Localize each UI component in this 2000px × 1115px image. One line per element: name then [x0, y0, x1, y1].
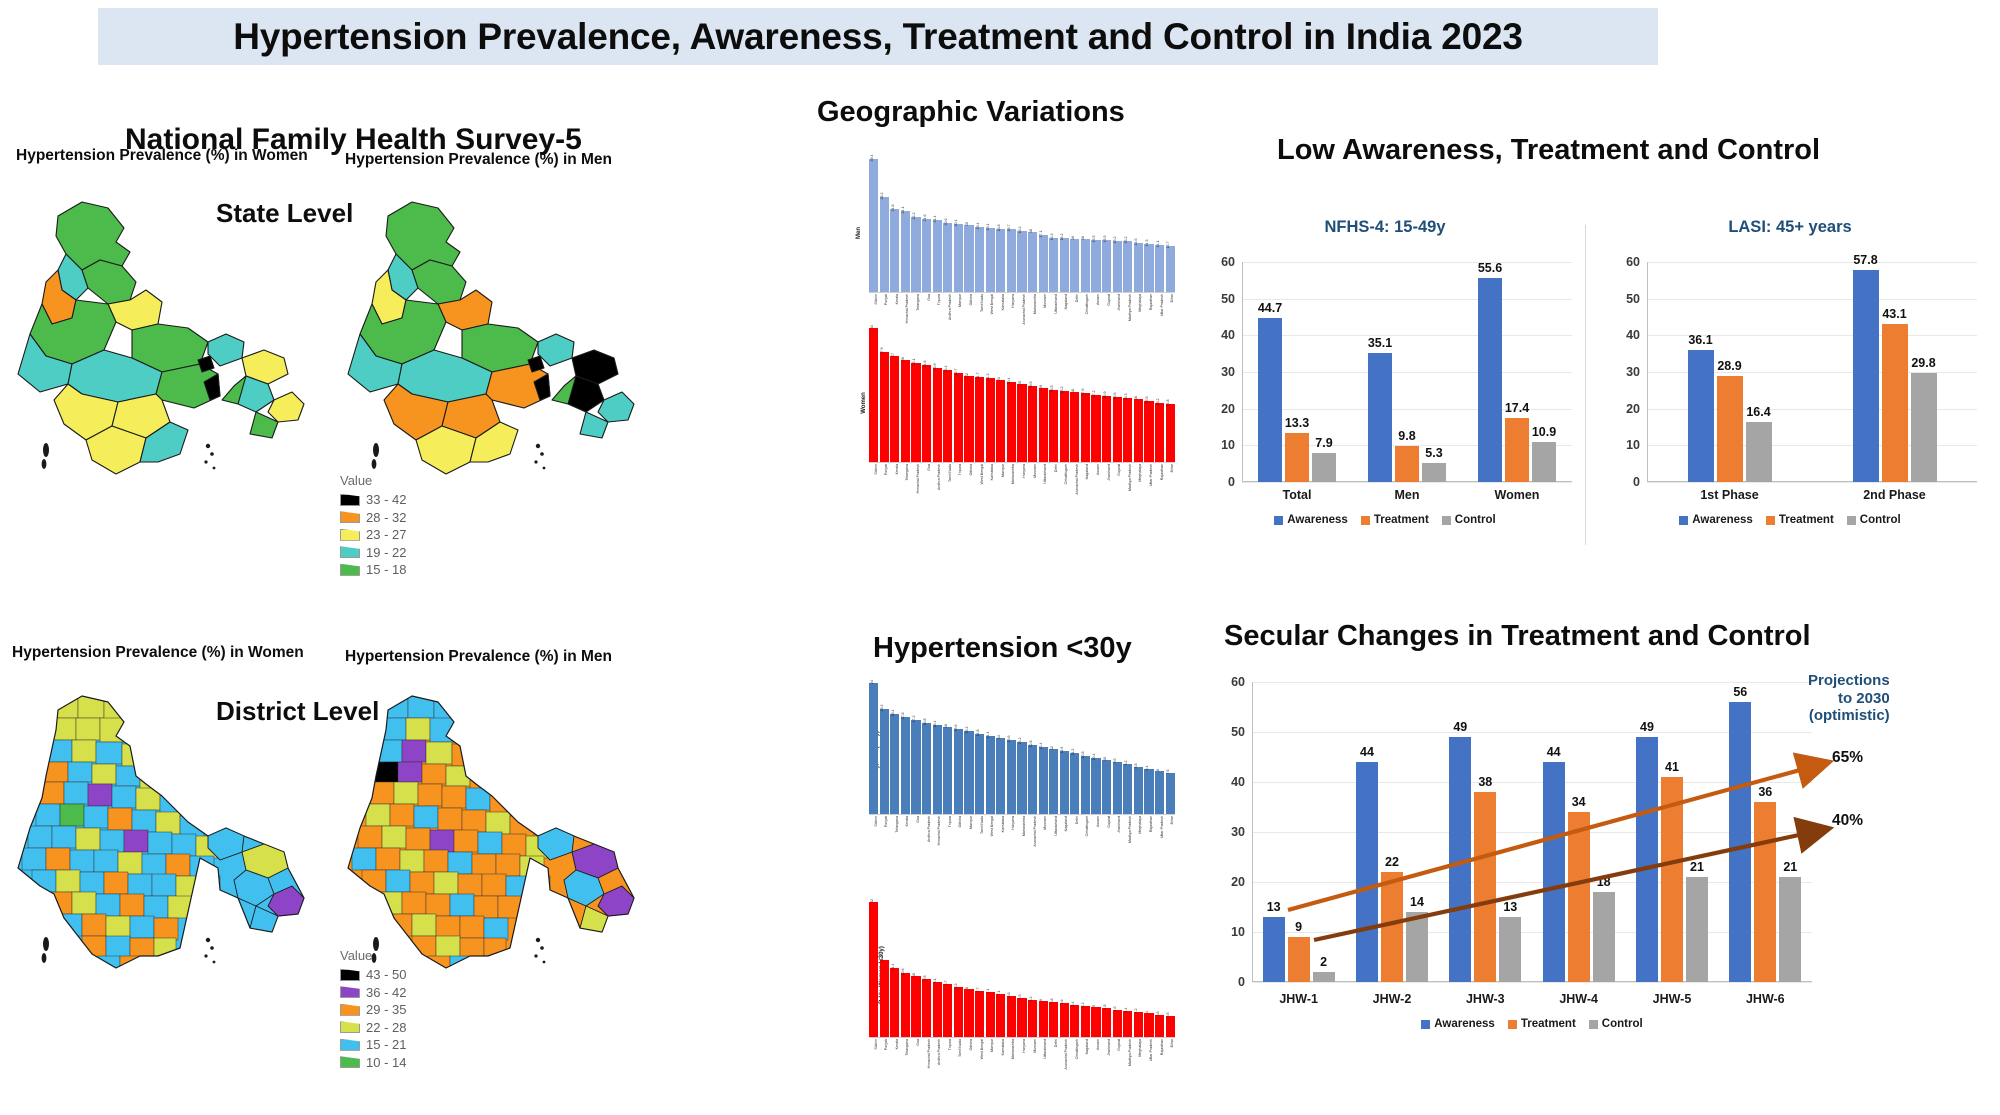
bar-value-label: 4.4 [1124, 1007, 1128, 1012]
bar-value-label: 18.2 [1018, 227, 1022, 234]
india-state-map-men-svg [342, 178, 642, 478]
bar-fill [996, 380, 1005, 463]
category-label: Rajasthan [1144, 815, 1153, 837]
bar: 3.8 [1155, 1015, 1164, 1038]
bar: 7.7 [975, 991, 984, 1038]
category-label: Kerala [901, 815, 910, 837]
bar: 8.3 [954, 987, 963, 1038]
bar: 14.6 [1134, 243, 1143, 293]
bar: 10.8 [1081, 756, 1090, 815]
category-label: Chhattisgarh [1060, 463, 1069, 485]
bar-value-label: 7.4 [986, 989, 990, 994]
bar-fill [1113, 397, 1122, 463]
y-axis-tick-label: 40 [1231, 775, 1245, 789]
category-label: Andhra Pradesh [933, 1038, 942, 1060]
bar: 10.4 [1091, 758, 1100, 815]
bar: 15.5 [1091, 240, 1100, 293]
bar: 28.2 [880, 197, 889, 293]
x-category-label: Men [1352, 488, 1462, 502]
category-label: Delhi [1049, 1038, 1058, 1060]
bar-fill [1091, 395, 1100, 463]
y-axis-tick-label: 30 [1221, 365, 1235, 379]
bar: 16.2 [1060, 238, 1069, 293]
category-label: Tripura [954, 463, 963, 485]
bar-fill [1102, 1008, 1111, 1038]
bar-fill [1060, 751, 1069, 815]
bar-fill [901, 360, 910, 463]
category-label: Rajasthan [1144, 293, 1153, 315]
category-label: Mizoram [1039, 293, 1048, 315]
bar-value-label: 6 [1039, 999, 1043, 1001]
bar-treatment: 36 [1754, 802, 1776, 982]
bar-groups: 44.713.37.935.19.85.355.617.410.9 [1242, 262, 1572, 482]
bar-group: 35.19.85.3 [1352, 262, 1462, 482]
category-label: West Bengal [986, 815, 995, 837]
bar-value-label: 16 [1071, 236, 1075, 240]
category-label: Haryana [1007, 293, 1016, 315]
legend-swatch [1508, 1020, 1517, 1029]
bar-value-label: 13.2 [1018, 738, 1022, 745]
bar: 21.4 [933, 220, 942, 293]
category-labels: SikkimPunjabTelanganaKeralaGoaAndhra Pra… [869, 815, 1175, 837]
bar-value-label: 16.4 [933, 720, 937, 727]
bar-fill [1102, 760, 1111, 815]
bar-value-label: 8 [965, 987, 969, 989]
bar: 13.7 [1166, 246, 1175, 293]
category-label: Tripura [933, 293, 942, 315]
category-label: Mizoram [1028, 1038, 1037, 1060]
x-category-label: JHW-5 [1625, 992, 1718, 1006]
bar-value-label: 21 [1783, 860, 1797, 874]
bar-fill [954, 729, 963, 815]
bar-value-label: 6.2 [1029, 996, 1033, 1001]
bar-fill [1028, 745, 1037, 815]
category-label: Tamil Nadu [954, 1038, 963, 1060]
projection-upper-label: 65% [1832, 749, 1863, 767]
legend-item: 10 - 14 [340, 1054, 406, 1072]
bar: 15.6 [954, 729, 963, 815]
bar-treatment: 13.3 [1285, 433, 1309, 482]
bar-group: 55.617.410.9 [1462, 262, 1572, 482]
bar-treatment: 43.1 [1882, 324, 1908, 482]
bar-fill [1134, 399, 1143, 463]
category-label: Punjab [880, 463, 889, 485]
chart-title-nfhs4: NFHS-4: 15-49y [1190, 218, 1580, 237]
bar: 9.5 [922, 979, 931, 1038]
bar-value-label: 17.6 [1081, 389, 1085, 396]
bar: 5 [1091, 1007, 1100, 1038]
bar: 21.7 [975, 377, 984, 463]
category-label: Sikkim [869, 293, 878, 315]
bar-treatment: 22 [1381, 872, 1403, 982]
legend-item: 23 - 27 [340, 526, 406, 544]
bar-control: 7.9 [1312, 453, 1336, 482]
bar-value-label: 7.1 [997, 991, 1001, 996]
bar-value-label: 15.2 [1113, 237, 1117, 244]
section-heading-secular: Secular Changes in Treatment and Control [1224, 620, 1811, 653]
y-axis-tick-label: 0 [1228, 475, 1235, 489]
bar-fill [975, 991, 984, 1038]
bar-group: 443418 [1532, 682, 1625, 982]
bar-value-label: 14.6 [1134, 239, 1138, 246]
category-label: Haryana [1007, 815, 1016, 837]
bar-value-label: 14.4 [986, 731, 990, 738]
bar: 11.4 [890, 968, 899, 1038]
bar-fill [1028, 386, 1037, 463]
category-label: Uttarakhand [1049, 293, 1058, 315]
projection-note: Projections to 2030 (optimistic) [1808, 672, 1890, 725]
bar: 15.2 [1155, 403, 1164, 463]
legend-item-control: Control [1589, 1018, 1643, 1030]
bar: 26 [901, 360, 910, 463]
legend-swatch [1589, 1020, 1598, 1029]
category-label: Meghalaya [1134, 293, 1143, 315]
bar-fill [964, 225, 973, 293]
category-label: Kerala [890, 293, 899, 315]
bar: 39.4 [869, 159, 878, 293]
india-state-map-women-svg [12, 178, 312, 478]
bar-value-label: 16 [944, 724, 948, 728]
legend-label: 33 - 42 [366, 492, 406, 507]
legend-swatch [1442, 516, 1451, 525]
bar: 5.2 [1081, 1006, 1090, 1038]
bar-fill [1102, 240, 1111, 293]
map-state-women [12, 178, 312, 478]
bar: 23.4 [943, 370, 952, 463]
x-category-label: JHW-1 [1252, 992, 1345, 1006]
x-category-label: JHW-6 [1719, 992, 1812, 1006]
bar-value-label: 5.2 [1081, 1002, 1085, 1007]
category-label: Assam [1091, 463, 1100, 485]
category-label: Maharashtra [1028, 293, 1037, 315]
bar-awareness: 44.7 [1258, 318, 1282, 482]
chart-geo-men: Men 39.428.224.824.122.221.621.420.620.4… [855, 150, 1175, 315]
legend-swatch [1421, 1020, 1430, 1029]
bar-value-label: 21.3 [986, 374, 990, 381]
bar-value-label: 5.6 [1060, 1000, 1064, 1005]
bar-value-label: 7.9 [1315, 436, 1332, 450]
bar: 22.2 [911, 217, 920, 293]
category-label: Uttar Pradesh [1155, 815, 1164, 837]
bar-awareness: 35.1 [1368, 353, 1392, 482]
bar-fill [1017, 742, 1026, 815]
bar-fill [1028, 232, 1037, 293]
map-caption-district-men: Hypertension Prevalence (%) in Men [345, 648, 612, 666]
legend-item: 19 - 22 [340, 544, 406, 562]
bar-group: 442214 [1345, 682, 1438, 982]
category-label: Andhra Pradesh [922, 815, 931, 837]
bar-group: 57.843.129.8 [1812, 262, 1977, 482]
legend-label: Awareness [1287, 514, 1348, 526]
y-axis-tick-label: 10 [1231, 925, 1245, 939]
bar-fill [933, 220, 942, 293]
legend-label: Treatment [1779, 514, 1834, 526]
category-label: West Bengal [986, 293, 995, 315]
legend-swatch-23-27 [340, 529, 360, 541]
bar-treatment: 34 [1568, 812, 1590, 982]
bar-group: 493813 [1439, 682, 1532, 982]
bar-fill [922, 365, 931, 463]
bar: 20.4 [1007, 382, 1016, 463]
bar: 10.6 [901, 973, 910, 1038]
legend-swatch-29-35 [340, 1004, 360, 1016]
bar-fill [1134, 243, 1143, 293]
bar-value-label: 16.9 [1103, 391, 1107, 398]
category-label: Sikkim [869, 1038, 878, 1060]
bar-value-label: 43.1 [1882, 307, 1906, 321]
category-label: Manipur [996, 463, 1005, 485]
bar-value-label: 39.4 [870, 154, 874, 161]
bar: 21 [996, 380, 1005, 463]
bar-treatment: 41 [1661, 777, 1683, 982]
category-label: Odisha [954, 815, 963, 837]
bar: 18.8 [996, 229, 1005, 293]
category-label: Goa [911, 815, 920, 837]
category-labels: SikkimPunjabKeralaHimachal PradeshTelang… [869, 293, 1175, 315]
category-label: Goa [922, 463, 931, 485]
category-label: Jharkhand [1113, 815, 1122, 837]
y-axis-tick-label: 10 [1221, 438, 1235, 452]
bar: 19.2 [880, 709, 889, 815]
bar: 11.6 [1060, 751, 1069, 815]
plot-area: 0102030405060 13924422144938134434184941… [1252, 682, 1812, 982]
category-label: Maharashtra [1007, 463, 1016, 485]
section-heading-low-awareness: Low Awareness, Treatment and Control [1277, 134, 1820, 167]
category-label: Bihar [1166, 293, 1175, 315]
bar: 16.4 [933, 725, 942, 815]
bar-fill [975, 734, 984, 815]
bar-fill [1113, 241, 1122, 293]
category-label: West Bengal [975, 1038, 984, 1060]
bar-value-label: 16 [1081, 236, 1085, 240]
bar-fill [1091, 1007, 1100, 1038]
bar-awareness: 44 [1543, 762, 1565, 982]
bar-value-label: 15.2 [1156, 398, 1160, 405]
category-label: Telangana [890, 815, 899, 837]
bar: 15.2 [1113, 241, 1122, 293]
x-category-label: JHW-2 [1345, 992, 1438, 1006]
plot-area: 39.428.224.824.122.221.621.420.620.42019… [869, 150, 1175, 293]
bar-control: 21 [1779, 877, 1801, 982]
bar: 18 [1070, 392, 1079, 464]
category-label: Goa [911, 1038, 920, 1060]
category-label: Bihar [1166, 1038, 1175, 1060]
legend-item-control: Control [1442, 514, 1496, 526]
category-label: Himachal Pradesh [922, 1038, 931, 1060]
plot-area: 3427.9272625.124.623.923.422.72221.721.3… [869, 320, 1175, 463]
bar-value-label: 29.8 [1911, 356, 1935, 370]
bar-value-label: 16 [1134, 396, 1138, 400]
bar: 18 [1028, 232, 1037, 293]
bar-value-label: 16.4 [1746, 405, 1770, 419]
bar: 9.1 [933, 982, 942, 1038]
bar-fill [1039, 1001, 1048, 1038]
legend-label: 19 - 22 [366, 545, 406, 560]
bar-fill [911, 217, 920, 293]
category-label: Karnataka [996, 1038, 1005, 1060]
poster-title-banner: Hypertension Prevalence, Awareness, Trea… [98, 8, 1658, 65]
bar-group: 44.713.37.9 [1242, 262, 1352, 482]
category-label: Haryana [1017, 463, 1026, 485]
bar: 4.4 [1123, 1011, 1132, 1038]
bar-value-label: 18.5 [1050, 385, 1054, 392]
bar-value-label: 18.4 [891, 709, 895, 716]
category-label: Telangana [911, 293, 920, 315]
bar: 16 [1081, 239, 1090, 293]
y-axis-tick-label: 10 [1626, 438, 1640, 452]
bar-value-label: 19.4 [976, 222, 980, 229]
category-label: Karnataka [996, 293, 1005, 315]
plot-area: 0102030405060 44.713.37.935.19.85.355.61… [1242, 262, 1572, 482]
bar-value-label: 15.2 [1124, 237, 1128, 244]
bar: 7.1 [996, 994, 1005, 1038]
bar-fill [901, 973, 910, 1038]
y-axis-tick-label: 40 [1221, 328, 1235, 342]
bar-fill [954, 373, 963, 463]
projection-note-line-2: to 2030 [1808, 690, 1890, 708]
legend-label: 10 - 14 [366, 1055, 406, 1070]
bar-awareness: 36.1 [1688, 350, 1714, 482]
bar-value-label: 17.2 [912, 716, 916, 723]
legend-label: Awareness [1434, 1018, 1495, 1030]
bar-value-label: 23.4 [944, 366, 948, 373]
bar-value-label: 44 [1547, 745, 1561, 759]
bar-fill [1144, 1013, 1153, 1038]
category-label: Madhya Pradesh [1123, 463, 1132, 485]
bar-fill [911, 976, 920, 1038]
legend-label: Treatment [1374, 514, 1429, 526]
x-category-label: Total [1242, 488, 1352, 502]
bar: 19 [1039, 388, 1048, 463]
bar: 16 [943, 727, 952, 815]
bar: 15.2 [964, 731, 973, 815]
bar-value-label: 10.6 [901, 968, 905, 975]
district-map-legend: Value 43 - 50 36 - 42 29 - 35 22 - 28 15… [340, 948, 406, 1071]
bar-value-label: 13.3 [1285, 416, 1309, 430]
bar: 19.1 [986, 228, 995, 293]
bar: 12 [1049, 749, 1058, 815]
legend-item-treatment: Treatment [1766, 514, 1834, 526]
category-label: Telangana [901, 1038, 910, 1060]
bar: 21.3 [986, 378, 995, 463]
bar-fill [1134, 767, 1143, 815]
category-label: Arunachal Pradesh [1060, 1038, 1069, 1060]
bar-value-label: 21.7 [976, 372, 980, 379]
chart-nfhs4: NFHS-4: 15-49y 0102030405060 44.713.37.9… [1190, 218, 1580, 558]
bar-value-label: 24.1 [901, 206, 905, 213]
category-label: Haryana [1017, 1038, 1026, 1060]
x-category-label: JHW-3 [1439, 992, 1532, 1006]
bar-value-label: 22.7 [954, 368, 958, 375]
bar-fill [986, 992, 995, 1038]
category-label: Odisha [964, 293, 973, 315]
legend-label: 22 - 28 [366, 1020, 406, 1035]
bar: 17.2 [1091, 395, 1100, 463]
bar-value-label: 14 [997, 735, 1001, 739]
bar-value-label: 3.8 [1156, 1011, 1160, 1016]
bar-value-label: 13 [1267, 900, 1281, 914]
bar-fill [1091, 758, 1100, 815]
y-axis-tick-label: 60 [1221, 255, 1235, 269]
legend-swatch-36-42 [340, 986, 360, 998]
legend-label: 23 - 27 [366, 527, 406, 542]
bar-value-label: 10 [1103, 757, 1107, 761]
chart-legend-lasi: AwarenessTreatmentControl [1595, 514, 1985, 526]
category-label: Himachal Pradesh [911, 463, 920, 485]
bar: 3.6 [1166, 1016, 1175, 1038]
infographic-poster: Hypertension Prevalence, Awareness, Trea… [0, 0, 2000, 1115]
bar: 8 [1155, 771, 1164, 815]
map-caption-state-men: Hypertension Prevalence (%) in Men [345, 151, 612, 169]
bar-value-label: 24.8 [891, 204, 895, 211]
bar-fill [911, 720, 920, 815]
bar-value-label: 9.6 [1113, 759, 1117, 764]
map-district-women [12, 672, 312, 972]
bar-fill [1113, 762, 1122, 815]
bar-fill [1049, 1002, 1058, 1038]
legend-swatch-28-32 [340, 511, 360, 523]
bar-value-label: 8.8 [1134, 763, 1138, 768]
bar: 7.4 [986, 992, 995, 1038]
legend-item: 15 - 21 [340, 1036, 406, 1054]
bar-fill [869, 159, 878, 293]
y-axis-tick-label: 50 [1231, 725, 1245, 739]
bar-fill [880, 352, 889, 463]
bar-fill [1123, 241, 1132, 293]
bar: 24.8 [890, 209, 899, 293]
category-label: Nagaland [1060, 815, 1069, 837]
category-label: Delhi [1049, 463, 1058, 485]
bar: 14.4 [986, 736, 995, 815]
category-label: Manipur [964, 815, 973, 837]
chart-hy30-men: B-Hy, Men (<30y) 2419.218.417.817.216.81… [855, 672, 1175, 837]
bar-fill [1166, 773, 1175, 815]
bar-value-label: 12.4 [1039, 742, 1043, 749]
bar-value-label: 10.8 [1081, 751, 1085, 758]
category-label: Uttarakhand [1039, 1038, 1048, 1060]
category-label: Punjab [880, 293, 889, 315]
legend-swatch [1766, 516, 1775, 525]
bar-control: 14 [1406, 912, 1428, 982]
legend-item: 33 - 42 [340, 491, 406, 509]
bar-value-label: 25.1 [912, 359, 916, 366]
category-labels: SikkimPunjabKeralaTelanganaHimachal Prad… [869, 463, 1175, 485]
category-label: Uttar Pradesh [1144, 463, 1153, 485]
bar-fill [943, 223, 952, 293]
bar-fill [933, 368, 942, 463]
bar: 20.6 [943, 223, 952, 293]
bar-fill [1081, 756, 1090, 815]
bar-value-label: 34 [1572, 795, 1586, 809]
bar-value-label: 4.2 [1134, 1009, 1138, 1014]
bar-value-label: 49 [1640, 720, 1654, 734]
bar-fill [880, 709, 889, 815]
bar-fill [1155, 403, 1164, 463]
bar-value-label: 4.6 [1113, 1006, 1117, 1011]
bar: 6.5 [1017, 998, 1026, 1038]
y-axis-tick-label: 50 [1221, 292, 1235, 306]
y-axis-tick-label: 20 [1626, 402, 1640, 416]
bar-value-label: 27.9 [880, 348, 884, 355]
bar-value-label: 16.6 [1113, 393, 1117, 400]
category-label: Meghalaya [1134, 463, 1143, 485]
bar: 16 [1134, 399, 1143, 463]
gridline [1647, 482, 1977, 483]
bar-value-label: 16.8 [923, 718, 927, 725]
bar-groups: 1392442214493813443418494121563621 [1252, 682, 1812, 982]
category-label: Assam [1091, 815, 1100, 837]
bar-fill [933, 982, 942, 1038]
